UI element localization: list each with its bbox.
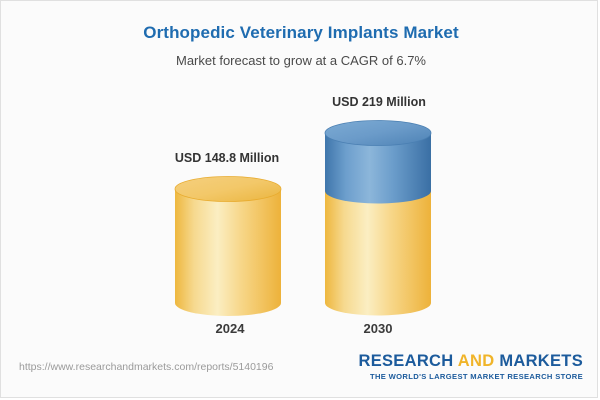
- bar-cylinder-2024[interactable]: [174, 176, 282, 316]
- x-axis-label-2030: 2030: [288, 321, 468, 336]
- logo-and-word: AND: [458, 352, 495, 370]
- report-url[interactable]: https://www.researchandmarkets.com/repor…: [19, 361, 273, 373]
- bar-value-label-2024: USD 148.8 Million: [137, 151, 317, 165]
- logo-wordmark: RESEARCH AND MARKETS: [358, 353, 583, 370]
- chart-card: Orthopedic Veterinary Implants Market Ma…: [0, 0, 598, 398]
- brand-logo: RESEARCH AND MARKETS THE WORLD'S LARGEST…: [358, 353, 583, 381]
- bar-value-label-2030: USD 219 Million: [289, 95, 469, 109]
- bar-cylinder-2030[interactable]: [324, 120, 432, 316]
- footer: https://www.researchandmarkets.com/repor…: [1, 345, 599, 397]
- logo-tagline: THE WORLD'S LARGEST MARKET RESEARCH STOR…: [358, 372, 583, 381]
- chart-plot-area: USD 148.8 Million: [1, 1, 600, 346]
- logo-research-text: RESEARCH: [358, 352, 453, 370]
- logo-markets-text: MARKETS: [499, 352, 583, 370]
